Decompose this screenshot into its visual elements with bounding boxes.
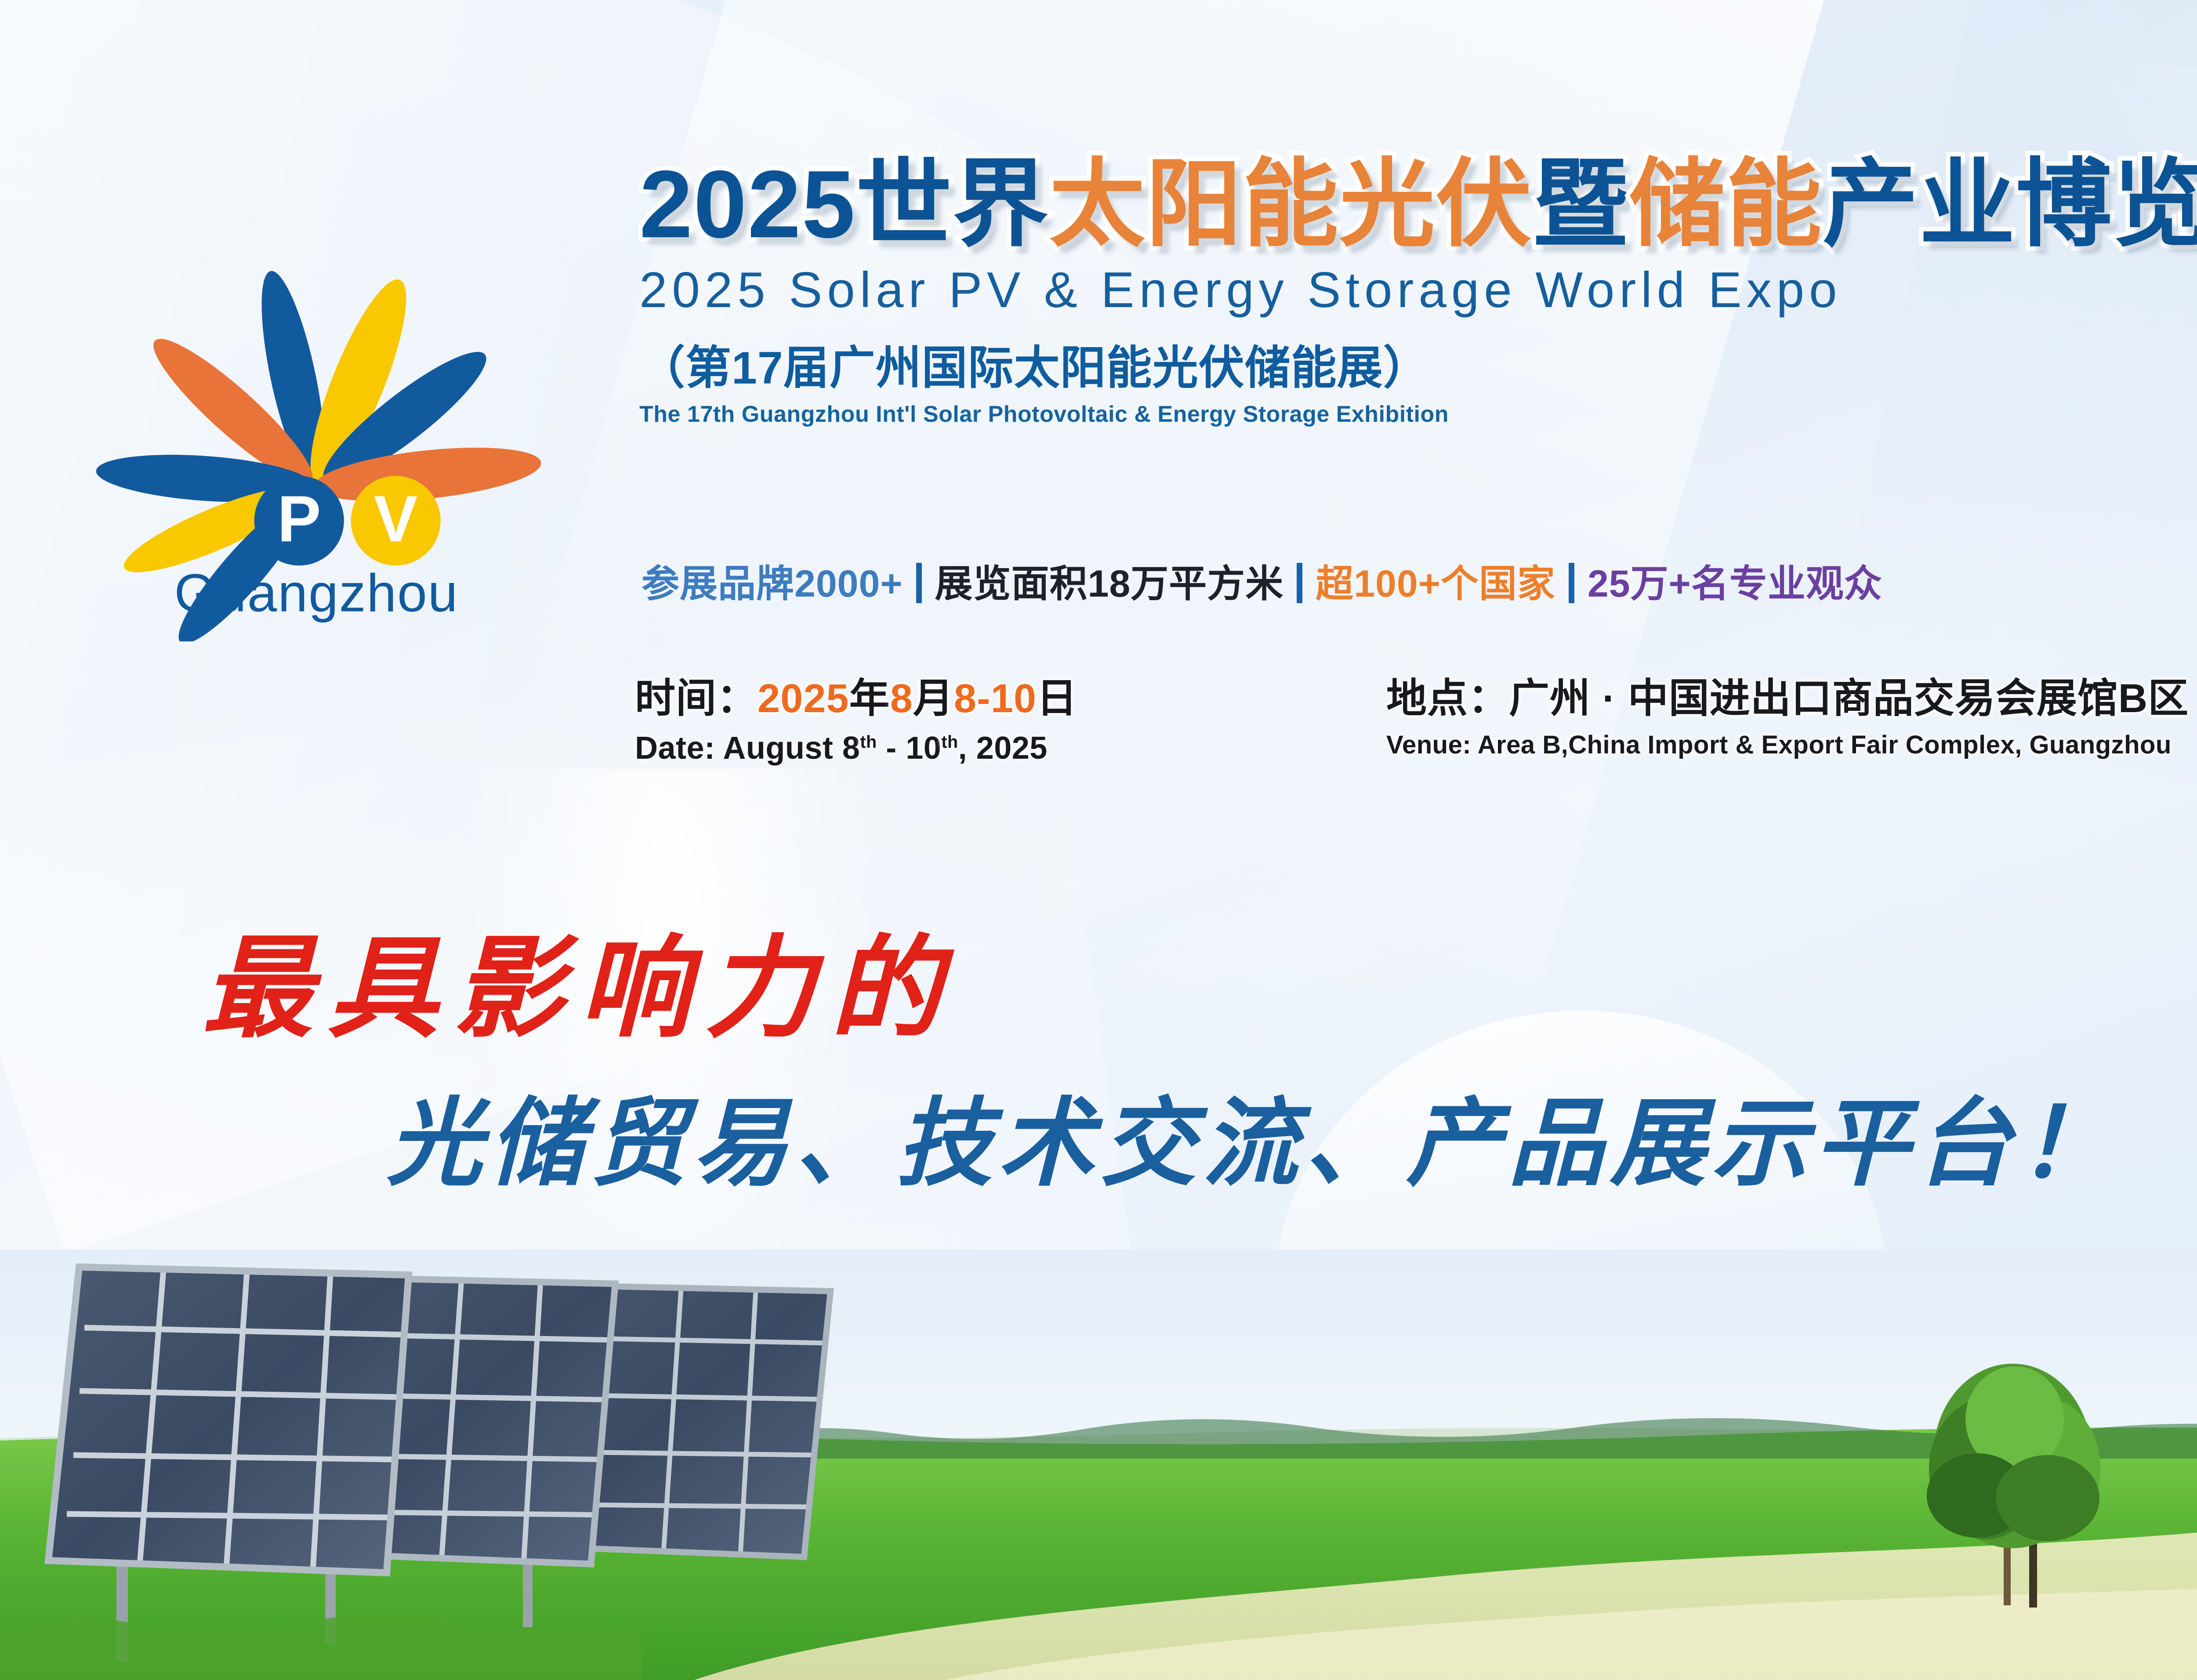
subtitle-english: The 17th Guangzhou Int'l Solar Photovolt… bbox=[639, 401, 2197, 427]
title-english: 2025 Solar PV & Energy Storage World Exp… bbox=[639, 261, 2197, 319]
date-label-cn: 时间： bbox=[635, 676, 758, 721]
date-en-sup-1: th bbox=[860, 732, 877, 752]
title-part-1: 2025世界 bbox=[639, 151, 1049, 258]
stat-separator-3 bbox=[1569, 563, 1574, 603]
date-month: 8 bbox=[890, 676, 913, 721]
stat-separator-1 bbox=[916, 563, 922, 603]
slogan-line-2: 光储贸易、技术交流、产品展示平台！ bbox=[387, 1065, 2120, 1204]
date-english: Date: August 8th - 10th, 2025 bbox=[635, 730, 1077, 766]
background-wave-3 bbox=[1821, 0, 2197, 942]
date-block: 时间：2025年8月8-10日 Date: August 8th - 10th,… bbox=[635, 666, 1077, 766]
title-part-5: 产业博览会 bbox=[1823, 151, 2197, 258]
date-day-unit: 日 bbox=[1037, 676, 1077, 721]
date-chinese: 时间：2025年8月8-10日 bbox=[635, 666, 1077, 724]
date-year: 2025 bbox=[758, 676, 849, 721]
title-part-3: 暨 bbox=[1533, 151, 1629, 258]
headline-block: 2025世界太阳能光伏暨储能产业博览会 2025 Solar PV & Ener… bbox=[639, 156, 2197, 427]
logo-letter-p: P bbox=[277, 482, 321, 555]
slogan-line-1: 最具影响力的 bbox=[202, 898, 956, 1059]
venue-english: Venue: Area B,China Import & Export Fair… bbox=[1386, 730, 2189, 760]
stat-separator-2 bbox=[1297, 563, 1302, 603]
date-en-prefix: Date: August 8 bbox=[635, 731, 860, 766]
stat-visitors: 25万+名专业观众 bbox=[1588, 553, 1882, 608]
title-part-4: 储能 bbox=[1629, 151, 1823, 258]
pv-guangzhou-logo[interactable]: P V Guangzhou bbox=[57, 176, 576, 641]
stat-countries: 超100+个国家 bbox=[1316, 553, 1555, 608]
date-day-range: 8-10 bbox=[954, 676, 1037, 721]
date-year-unit: 年 bbox=[849, 676, 890, 721]
date-en-mid: - 10 bbox=[877, 731, 942, 766]
date-en-suffix: , 2025 bbox=[958, 731, 1048, 766]
stat-exhibition-area: 展览面积18万平方米 bbox=[935, 553, 1284, 608]
stat-exhibiting-brands: 参展品牌2000+ bbox=[642, 553, 903, 608]
date-month-unit: 月 bbox=[913, 676, 954, 721]
title-part-2: 太阳能光伏 bbox=[1049, 151, 1533, 258]
venue-chinese: 地点：广州 · 中国进出口商品交易会展馆B区 bbox=[1386, 666, 2189, 724]
logo-wordmark: Guangzhou bbox=[174, 563, 459, 623]
venue-block: 地点：广州 · 中国进出口商品交易会展馆B区 Venue: Area B,Chi… bbox=[1386, 666, 2189, 760]
title-chinese: 2025世界太阳能光伏暨储能产业博览会 bbox=[639, 156, 2197, 253]
statistics-strip: 参展品牌2000+ 展览面积18万平方米 超100+个国家 25万+名专业观众 bbox=[642, 553, 1882, 608]
date-en-sup-2: th bbox=[941, 732, 958, 752]
subtitle-chinese: （第17届广州国际太阳能光伏储能展） bbox=[639, 330, 2197, 397]
logo-letter-v: V bbox=[374, 482, 418, 555]
landscape-scene bbox=[0, 1249, 2197, 1680]
expo-banner: P V Guangzhou 2025世界太阳能光伏暨储能产业博览会 2025 S… bbox=[0, 0, 2197, 1680]
